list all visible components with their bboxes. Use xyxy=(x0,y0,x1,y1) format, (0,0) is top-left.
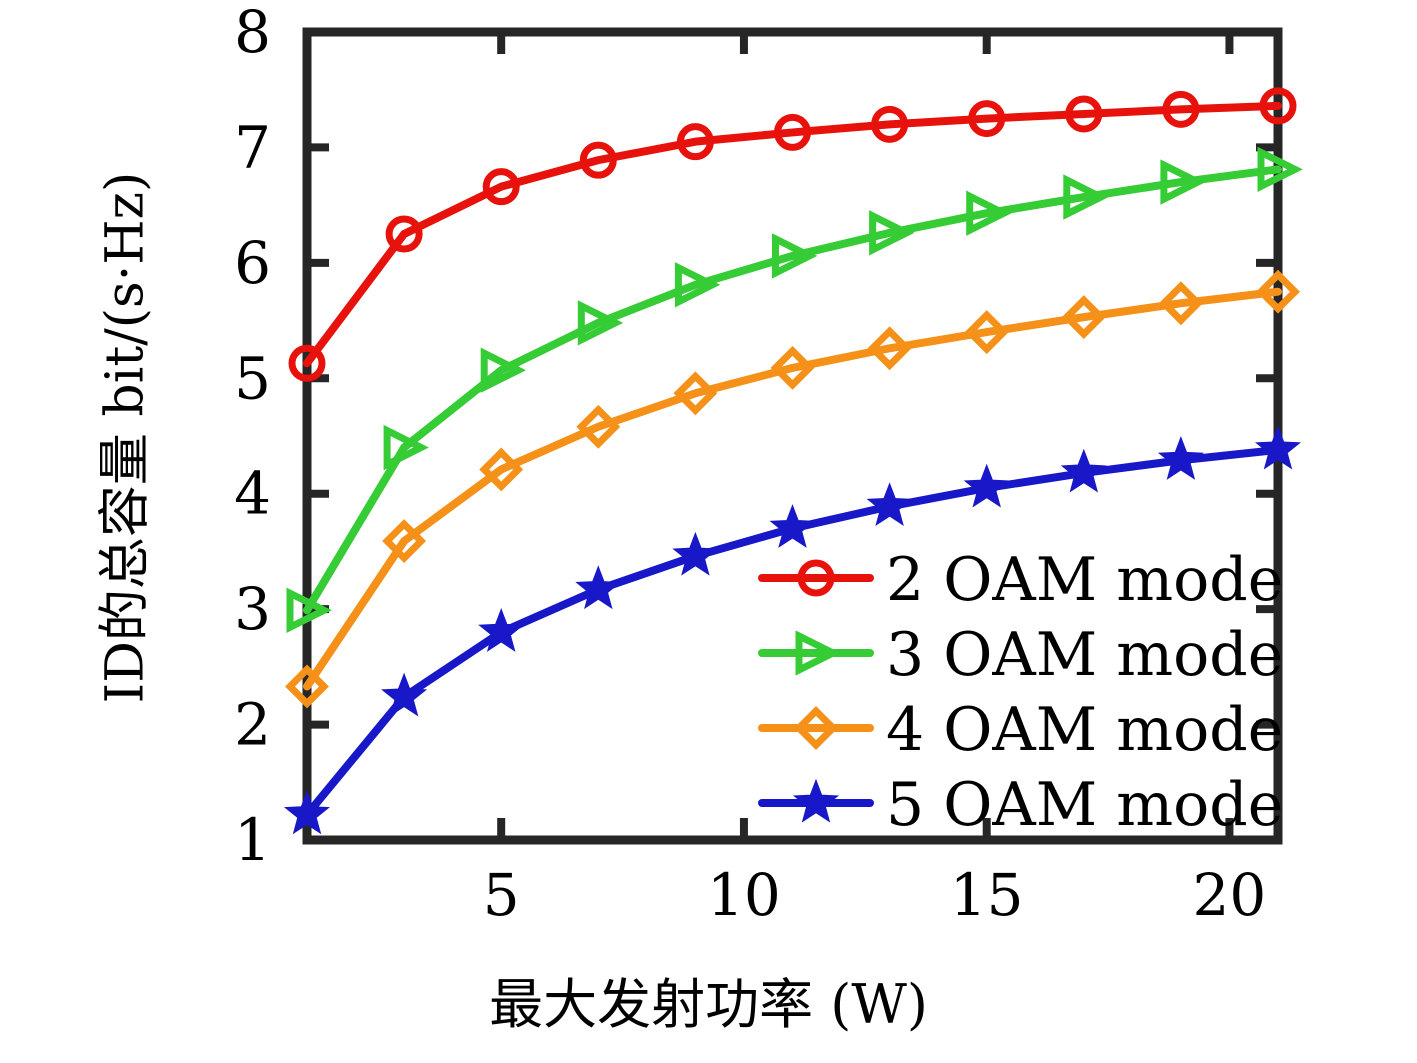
data-point-marker xyxy=(676,536,714,572)
y-tick-label: 7 xyxy=(234,113,271,181)
legend-label: 3 OAM mode xyxy=(886,620,1283,690)
data-point-marker xyxy=(968,468,1006,504)
y-tick-label: 5 xyxy=(234,344,271,412)
y-tick-label: 1 xyxy=(234,806,271,874)
y-tick-label: 4 xyxy=(234,460,271,528)
data-point-marker xyxy=(1162,440,1200,476)
x-tick-label: 5 xyxy=(483,861,520,929)
legend-entry-2[interactable]: 3 OAM mode xyxy=(762,620,1283,690)
data-point-marker xyxy=(871,486,909,522)
y-tick-label: 8 xyxy=(234,0,271,66)
y-axis-tick-labels: 12345678 xyxy=(234,0,271,874)
y-tick-label: 3 xyxy=(234,575,271,643)
plot-area: 12345678 5101520 2 OAM mode3 OAM mode4 O… xyxy=(0,0,1417,1063)
x-axis-tick-labels: 5101520 xyxy=(483,861,1267,929)
data-point-marker xyxy=(579,570,617,606)
data-point-marker xyxy=(773,508,811,544)
y-tick-label: 2 xyxy=(234,691,271,759)
chart-legend: 2 OAM mode3 OAM mode4 OAM mode5 OAM mode xyxy=(762,545,1283,840)
data-point-marker xyxy=(797,783,835,819)
chart-figure: ID的总容量 bit/(s·Hz) 最大发射功率 (W) 12345678 51… xyxy=(0,0,1417,1063)
x-tick-label: 10 xyxy=(707,861,781,929)
x-tick-label: 20 xyxy=(1193,861,1267,929)
x-tick-label: 15 xyxy=(950,861,1024,929)
legend-entry-1[interactable]: 2 OAM mode xyxy=(762,545,1283,615)
y-tick-label: 6 xyxy=(234,229,271,297)
data-point-marker xyxy=(1065,453,1103,489)
legend-label: 5 OAM mode xyxy=(886,770,1283,840)
legend-entry-3[interactable]: 4 OAM mode xyxy=(762,695,1283,765)
legend-entry-4[interactable]: 5 OAM mode xyxy=(762,770,1283,840)
legend-label: 4 OAM mode xyxy=(886,695,1283,765)
legend-label: 2 OAM mode xyxy=(886,545,1283,615)
series-2-oam-mode xyxy=(292,91,1293,378)
